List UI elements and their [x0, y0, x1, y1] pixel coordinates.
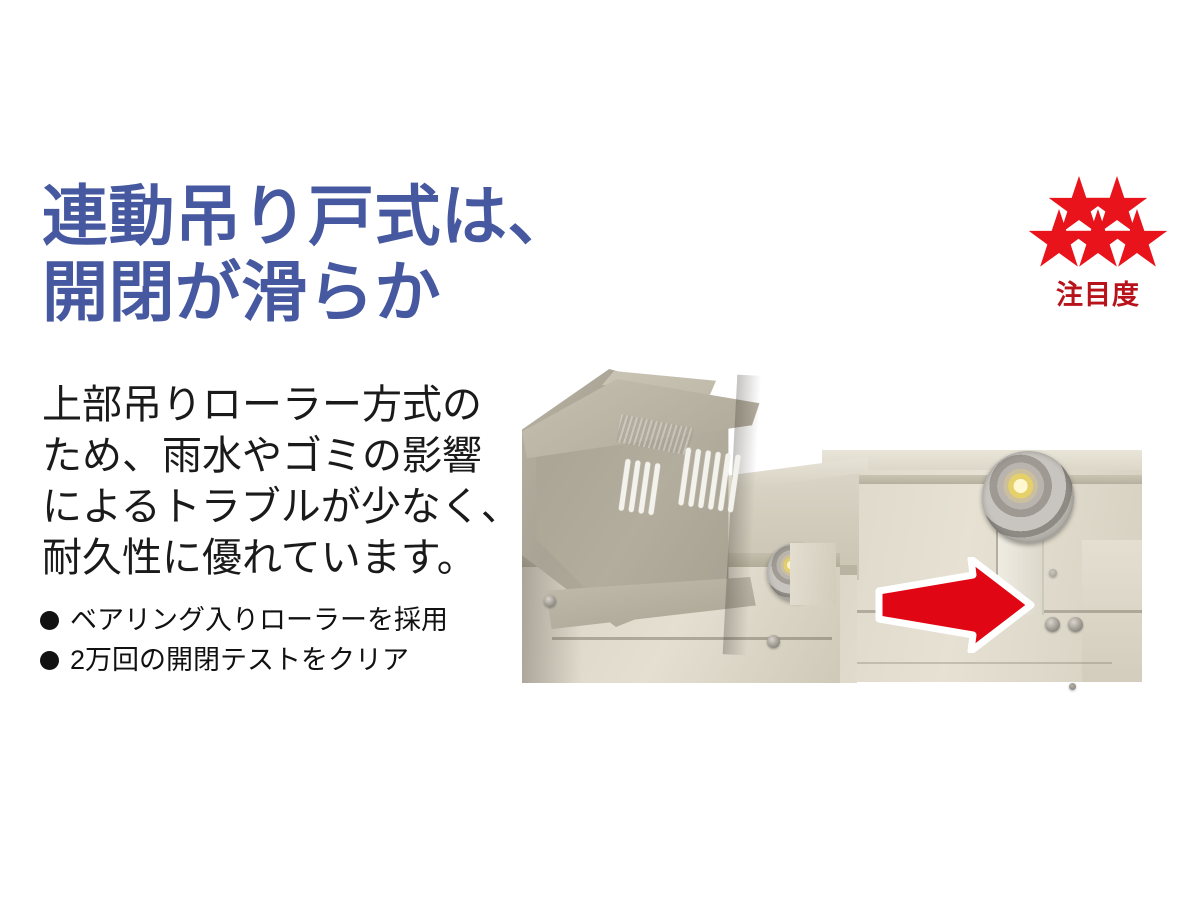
list-item-label: 2万回の開閉テストをクリア — [70, 640, 409, 680]
body-line-3: によるトラブルが少なく、 — [42, 482, 512, 533]
bolt-icon — [767, 635, 780, 648]
list-item-label: ベアリング入りローラーを採用 — [70, 600, 448, 640]
shed-body-right-top-edge — [822, 450, 1142, 470]
bolt-icon — [544, 595, 556, 607]
body-line-4: 耐久性に優れています。 — [42, 533, 512, 584]
bolt-icon — [1068, 617, 1083, 632]
shed-panel-seam — [822, 662, 1112, 664]
direction-arrow-icon — [875, 557, 1035, 653]
bullet-dot-icon — [40, 611, 59, 630]
list-item: 2万回の開閉テストをクリア — [40, 640, 510, 680]
body-line-1: 上部吊りローラー方式の — [42, 380, 512, 431]
list-item: ベアリング入りローラーを採用 — [40, 600, 510, 640]
roller-occluder — [790, 543, 836, 605]
shed-top-rail — [822, 475, 1142, 484]
description-text: 上部吊りローラー方式の ため、雨水やゴミの影響 によるトラブルが少なく、 耐久性… — [42, 380, 512, 584]
bolt-icon — [1069, 683, 1076, 690]
vent-slit-group — [619, 459, 661, 515]
body-line-2: ため、雨水やゴミの影響 — [42, 431, 512, 482]
slide-canvas: 連動吊り戸式は、 開閉が滑らか 上部吊りローラー方式の ため、雨水やゴミの影響 … — [0, 0, 1200, 900]
badge-star-group — [1022, 176, 1174, 276]
headline-line-2: 開閉が滑らか — [42, 254, 662, 330]
roller-wheel-primary — [982, 451, 1074, 543]
headline-line-1: 連動吊り戸式は、 — [42, 178, 662, 254]
badge-label: 注目度 — [1022, 273, 1174, 312]
attention-badge: 注目度 — [1022, 176, 1174, 316]
feature-list: ベアリング入りローラーを採用 2万回の開閉テストをクリア — [40, 600, 510, 680]
bullet-dot-icon — [40, 651, 59, 670]
vent-slit-group — [678, 447, 741, 512]
shed-panel-seam — [552, 637, 832, 640]
photo-scene — [522, 365, 1142, 725]
product-photo — [522, 365, 1142, 725]
page-title: 連動吊り戸式は、 開閉が滑らか — [42, 178, 662, 330]
bolt-icon — [1045, 617, 1060, 632]
bolt-icon — [1049, 569, 1057, 577]
